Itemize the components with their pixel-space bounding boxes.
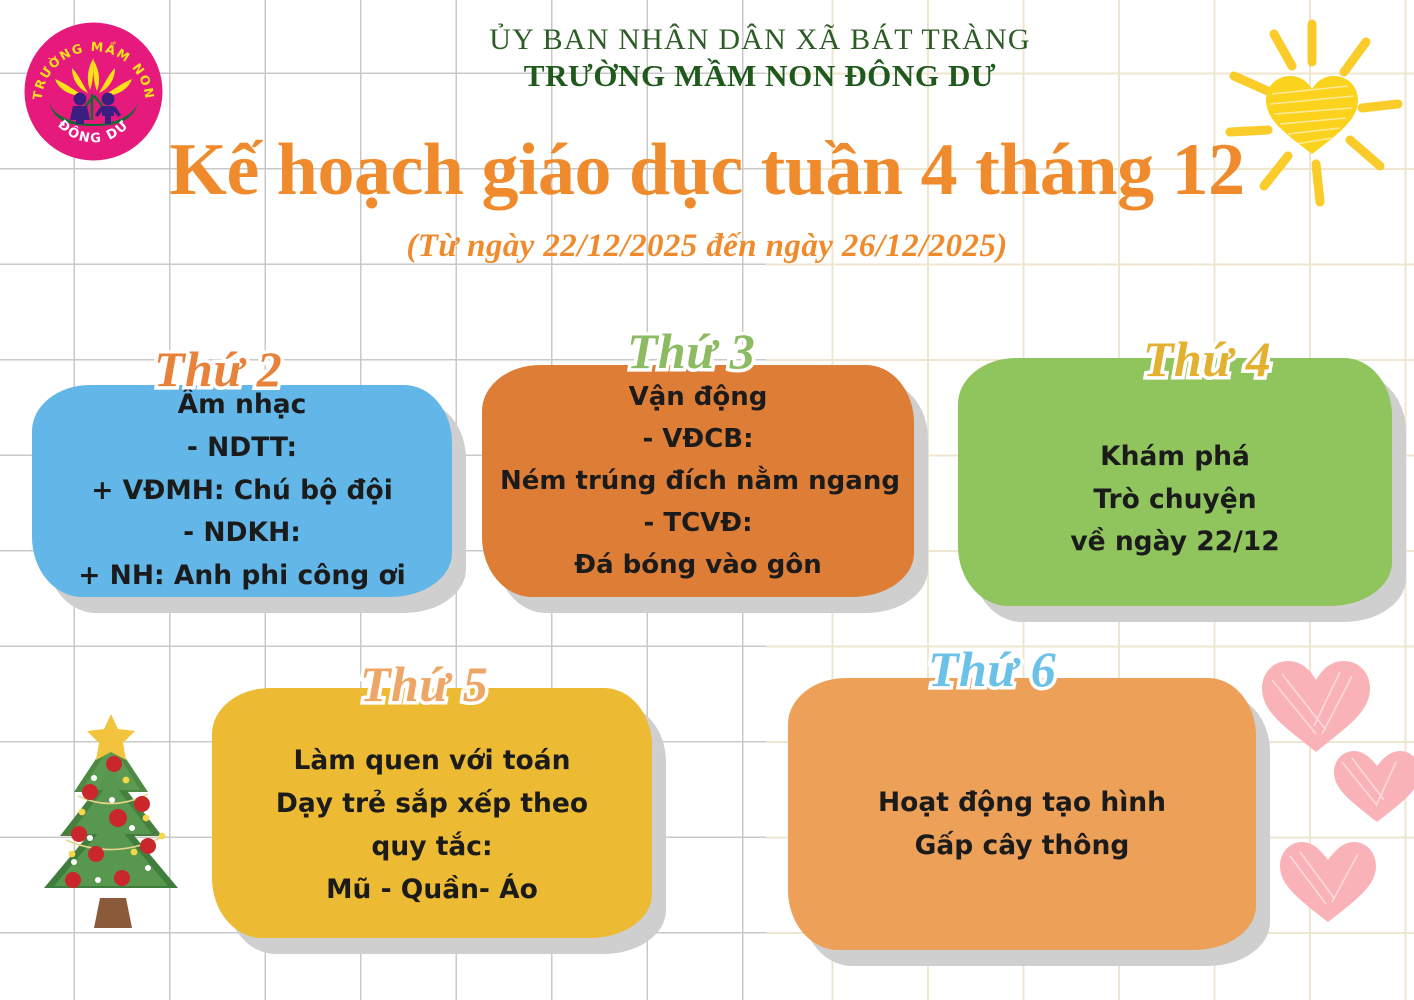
card-line: Hoạt động tạo hình bbox=[806, 782, 1238, 825]
day-card-monday[interactable]: Âm nhạc - NDTT: + VĐMH: Chú bộ đội - NDK… bbox=[32, 385, 452, 597]
day-card-tuesday[interactable]: Vận động - VĐCB: Ném trúng đích nằm ngan… bbox=[482, 365, 914, 597]
day-label-friday: Thứ 6 bbox=[928, 640, 1056, 698]
header-block: ỦY BAN NHÂN DÂN XÃ BÁT TRÀNG TRƯỜNG MẦM … bbox=[330, 22, 1190, 95]
page-title: Kế hoạch giáo dục tuần 4 tháng 12 bbox=[0, 128, 1414, 213]
card-body: Vận động - VĐCB: Ném trúng đích nằm ngan… bbox=[482, 365, 914, 597]
card-line: Mũ - Quần- Áo bbox=[230, 869, 634, 912]
card-line: Khám phá bbox=[976, 436, 1374, 479]
card-line: Đá bóng vào gôn bbox=[500, 544, 896, 586]
card-body: Hoạt động tạo hình Gấp cây thông bbox=[788, 678, 1256, 950]
christmas-tree-icon bbox=[22, 700, 200, 950]
card-content: Khám phá Trò chuyện về ngày 22/12 bbox=[958, 400, 1392, 565]
organization-line-1: ỦY BAN NHÂN DÂN XÃ BÁT TRÀNG bbox=[330, 22, 1190, 57]
card-line: + VĐMH: Chú bộ đội bbox=[50, 470, 434, 513]
card-line: + NH: Anh phi công ơi bbox=[50, 555, 434, 598]
card-line: Trò chuyện bbox=[976, 479, 1374, 522]
card-line: về ngày 22/12 bbox=[976, 521, 1374, 564]
sun-heart-icon bbox=[1216, 16, 1408, 212]
card-line: quy tắc: bbox=[230, 826, 634, 869]
card-content: Hoạt động tạo hình Gấp cây thông bbox=[788, 760, 1256, 868]
day-label-tuesday: Thứ 3 bbox=[627, 322, 755, 380]
card-content: Âm nhạc - NDTT: + VĐMH: Chú bộ đội - NDK… bbox=[32, 384, 452, 599]
card-line: - TCVĐ: bbox=[500, 502, 896, 544]
day-card-thursday[interactable]: Làm quen với toán Dạy trẻ sắp xếp theo q… bbox=[212, 688, 652, 938]
page-subtitle: (Từ ngày 22/12/2025 đến ngày 26/12/2025) bbox=[0, 228, 1414, 265]
day-label-monday: Thứ 2 bbox=[154, 340, 282, 398]
card-content: Vận động - VĐCB: Ném trúng đích nằm ngan… bbox=[482, 376, 914, 587]
day-label-wednesday: Thứ 4 bbox=[1143, 330, 1271, 388]
card-content: Làm quen với toán Dạy trẻ sắp xếp theo q… bbox=[212, 714, 652, 912]
day-card-friday[interactable]: Hoạt động tạo hình Gấp cây thông Thứ 6 bbox=[788, 678, 1256, 950]
organization-line-2: TRƯỜNG MẦM NON ĐÔNG DƯ bbox=[330, 57, 1190, 95]
card-line: - NDTT: bbox=[50, 427, 434, 470]
card-line: - VĐCB: bbox=[500, 418, 896, 460]
card-line: Dạy trẻ sắp xếp theo bbox=[230, 783, 634, 826]
day-label-thursday: Thứ 5 bbox=[360, 655, 488, 713]
card-line: Vận động bbox=[500, 376, 896, 418]
card-line: - NDKH: bbox=[50, 512, 434, 555]
card-body: Âm nhạc - NDTT: + VĐMH: Chú bộ đội - NDK… bbox=[32, 385, 452, 597]
card-body: Khám phá Trò chuyện về ngày 22/12 bbox=[958, 358, 1392, 606]
card-line: Làm quen với toán bbox=[230, 740, 634, 783]
poster-canvas: TRƯỜNG MẦM NON ĐÔNG DƯ ỦY BAN NHÂN DÂN X… bbox=[0, 0, 1414, 1000]
card-line: Ném trúng đích nằm ngang bbox=[500, 460, 896, 502]
pink-hearts-icon bbox=[1244, 630, 1414, 940]
card-line: Gấp cây thông bbox=[806, 825, 1238, 868]
day-card-wednesday[interactable]: Khám phá Trò chuyện về ngày 22/12 Thứ 4 bbox=[958, 358, 1392, 606]
card-body: Làm quen với toán Dạy trẻ sắp xếp theo q… bbox=[212, 688, 652, 938]
